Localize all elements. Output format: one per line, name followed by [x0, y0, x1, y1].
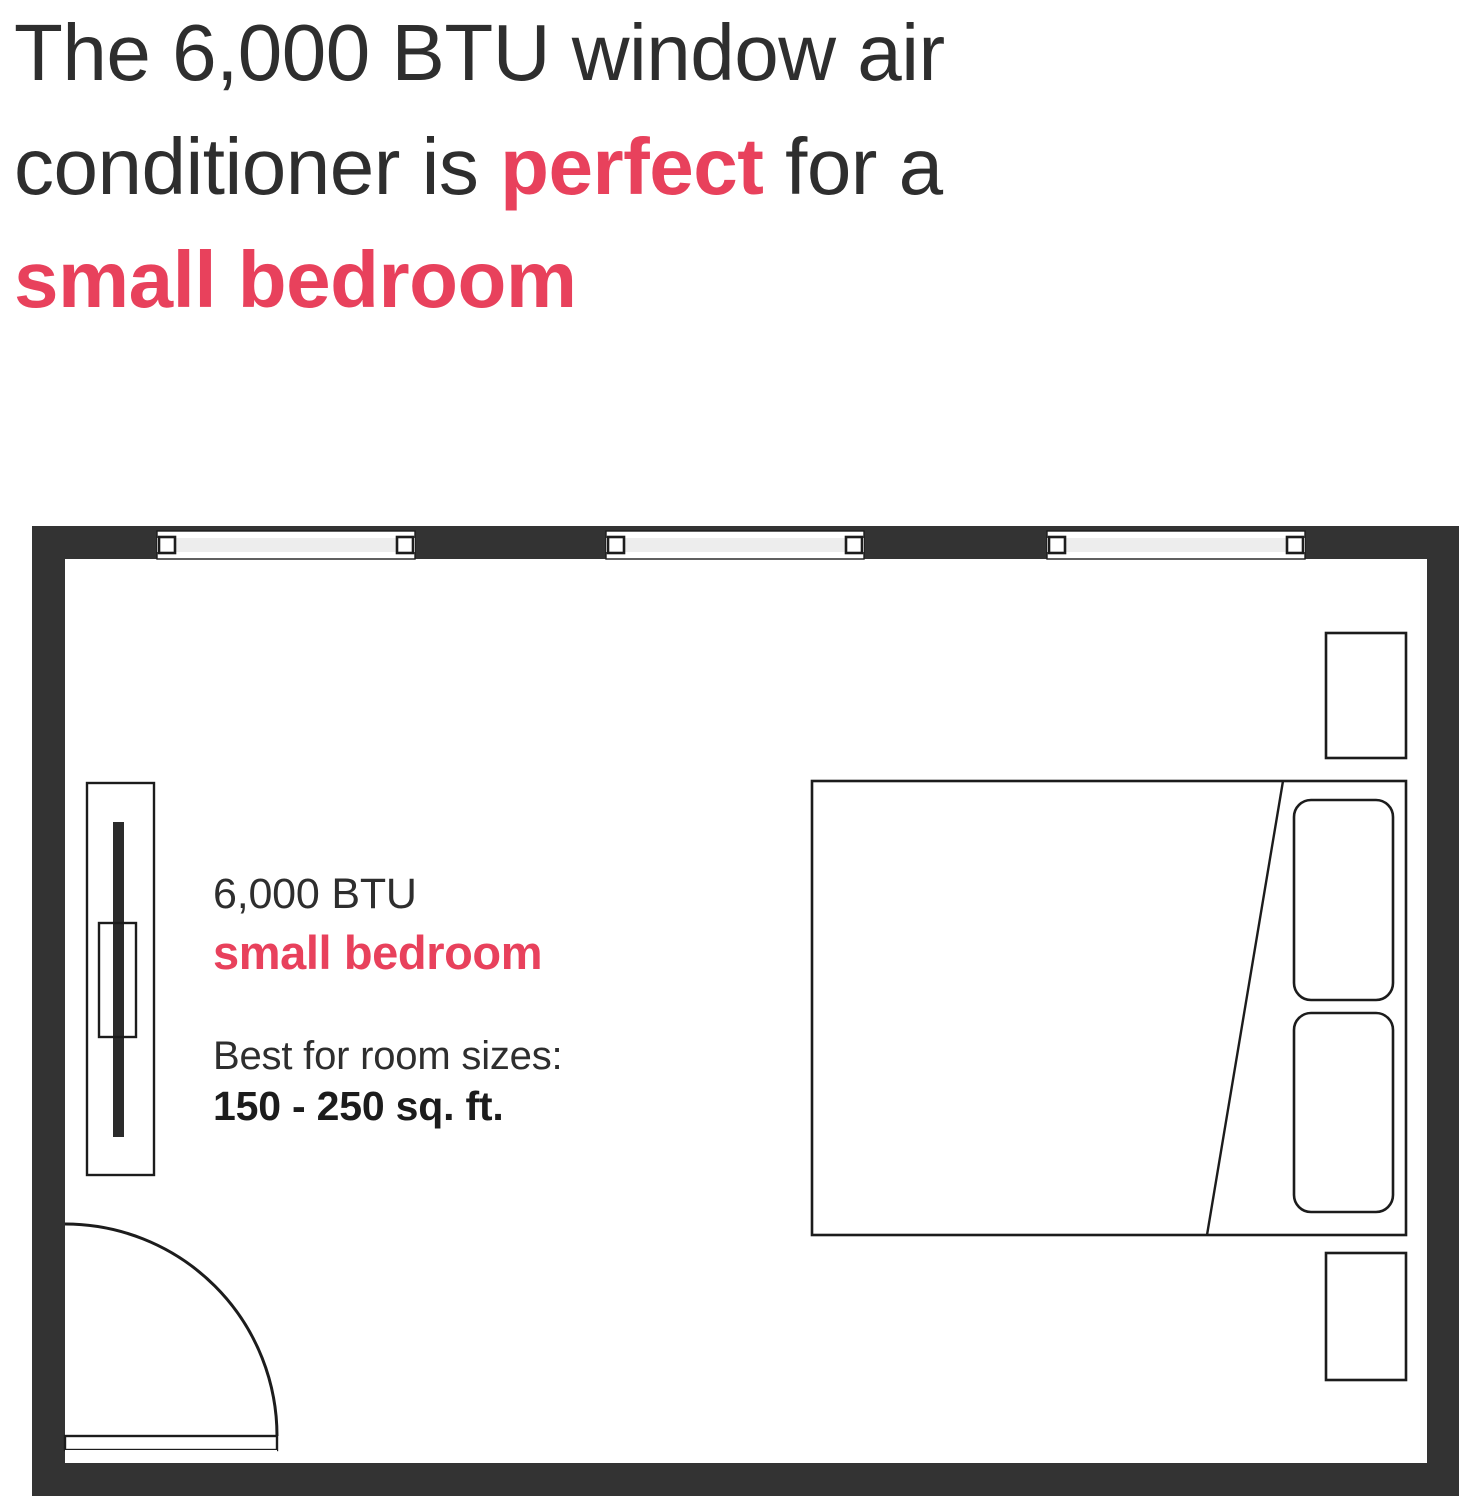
- window-top-right: [1047, 531, 1305, 559]
- window-top-left: [157, 531, 415, 559]
- callout-btu-rating: 6,000 BTU: [213, 868, 773, 920]
- dresser-center-bar: [113, 822, 124, 1137]
- window-jamb-right: [397, 537, 413, 553]
- callout-size-range: 150 - 250 sq. ft.: [213, 1081, 773, 1132]
- wall-bottom: [32, 1463, 1459, 1496]
- nightstand-upper: [1326, 633, 1406, 758]
- wall-left: [32, 526, 65, 1496]
- window-glass: [606, 538, 864, 552]
- door-opening: [65, 1450, 277, 1463]
- pillow-lower: [1294, 1013, 1393, 1212]
- bed: [812, 781, 1406, 1235]
- window-jamb-left: [159, 537, 175, 553]
- floor-plan-callout: 6,000 BTU small bedroom Best for room si…: [213, 868, 773, 1132]
- window-jamb-right: [846, 537, 862, 553]
- callout-room-type: small bedroom: [213, 922, 773, 983]
- window-jamb-left: [1049, 537, 1065, 553]
- door-swing-arc: [65, 1224, 277, 1436]
- floor-plan-svg: [0, 0, 1468, 1500]
- nightstand-lower: [1326, 1253, 1406, 1380]
- window-glass: [1047, 538, 1305, 552]
- wall-right: [1427, 526, 1459, 1496]
- door-swing: [65, 1224, 277, 1463]
- window-jamb-left: [608, 537, 624, 553]
- callout-best-for-label: Best for room sizes:: [213, 1032, 773, 1082]
- pillow-upper: [1294, 800, 1393, 1000]
- window-glass: [157, 538, 415, 552]
- door-leaf: [65, 1436, 277, 1450]
- floor-plan-diagram: [0, 0, 1468, 1500]
- window-top-center: [606, 531, 864, 559]
- dresser-left-wall: [87, 783, 154, 1175]
- window-jamb-right: [1287, 537, 1303, 553]
